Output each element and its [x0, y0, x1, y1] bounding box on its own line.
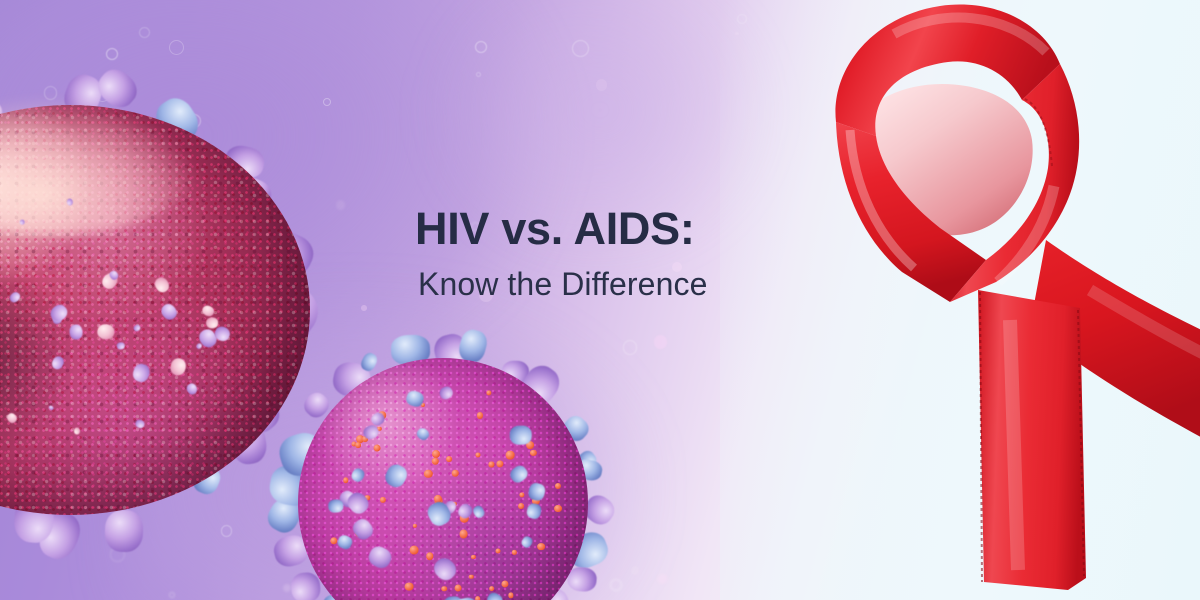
virus-receptor-dot: [446, 456, 452, 462]
virus-receptor-dot: [432, 450, 440, 458]
bokeh-particle: [735, 32, 738, 35]
virus-receptor-dot: [459, 529, 468, 538]
virus-receptor-dot: [355, 442, 361, 448]
virus-receptor-dot: [452, 470, 459, 477]
hiv-aids-awareness-banner: HIV vs. AIDS: Know the Difference: [0, 0, 1200, 600]
virus-receptor-dot: [442, 586, 448, 592]
virus-receptor-dot: [475, 596, 481, 600]
bokeh-particle: [657, 574, 668, 585]
virus-particle-large: [0, 105, 310, 515]
page-title: HIV vs. AIDS:: [415, 205, 815, 253]
virus-receptor-dot: [410, 545, 419, 554]
virus-particle-small: [298, 358, 588, 600]
bokeh-particle: [631, 566, 640, 575]
virus-surface-protein: [328, 499, 343, 513]
bokeh-particle: [361, 305, 367, 311]
aids-awareness-ribbon-icon: [790, 0, 1200, 600]
virus-receptor-dot: [374, 445, 381, 452]
virus-receptor-dot: [554, 505, 562, 513]
ribbon-sheen-tail: [1010, 320, 1018, 570]
virus-receptor-dot: [495, 549, 500, 554]
bokeh-particle: [169, 40, 184, 55]
virus-receptor-dot: [432, 458, 439, 465]
virus-surface-protein: [19, 219, 24, 225]
virus-receptor-dot: [426, 552, 434, 560]
virus-surface-protein: [510, 426, 532, 446]
bokeh-particle: [654, 335, 667, 348]
virus-receptor-dot: [537, 543, 545, 551]
virus-spike-protein: [104, 510, 142, 553]
virus-surface-protein: [205, 317, 218, 328]
virus-receptor-dot: [518, 503, 524, 509]
virus-receptor-dot: [454, 585, 461, 592]
virus-receptor-dot: [506, 451, 515, 460]
virus-receptor-dot: [343, 477, 349, 483]
page-subtitle: Know the Difference: [418, 267, 815, 302]
banner-text-block: HIV vs. AIDS: Know the Difference: [415, 205, 815, 302]
virus-receptor-dot: [469, 575, 474, 580]
virus-receptor-dot: [489, 586, 495, 592]
virus-receptor-dot: [405, 582, 414, 591]
bokeh-particle: [221, 525, 233, 537]
ribbon-tail-left: [978, 290, 1086, 590]
